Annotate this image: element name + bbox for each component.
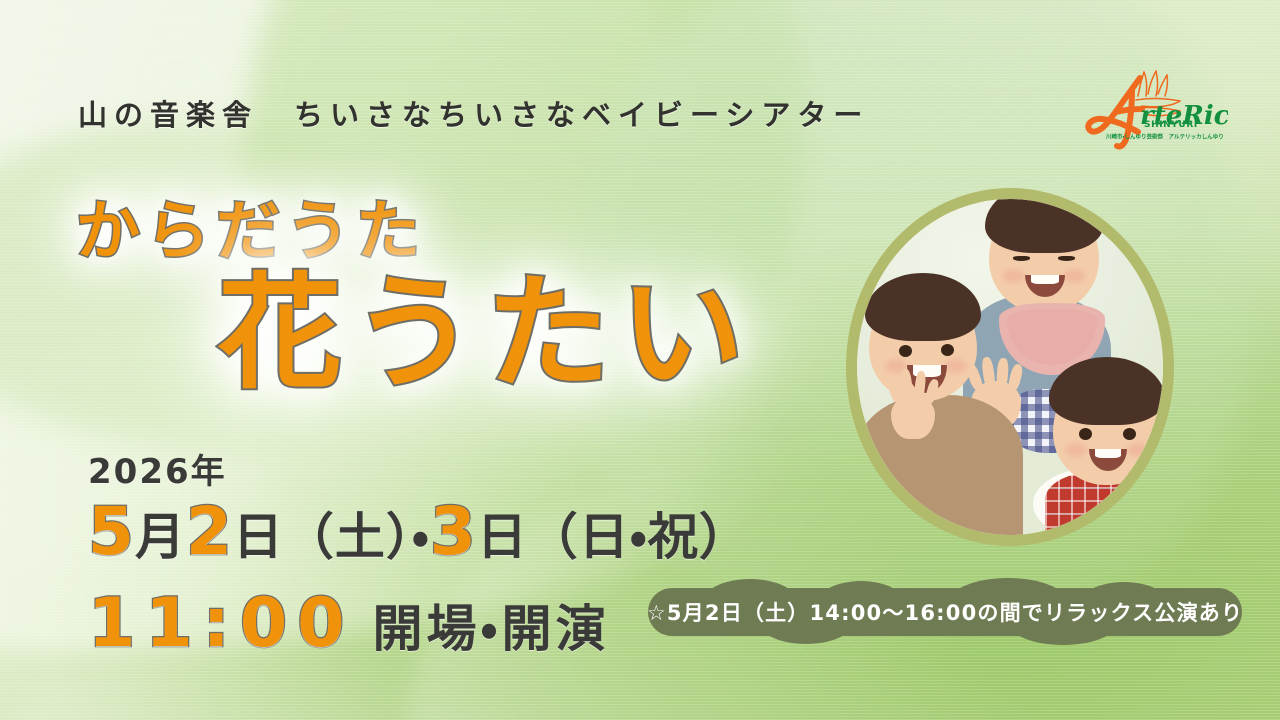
baby-left-eye-r — [941, 344, 954, 356]
babies-photo — [857, 199, 1163, 535]
baby-left-eye-l — [899, 345, 912, 357]
year-suffix: 年 — [191, 452, 227, 492]
artericca-logo[interactable]: rteRicca SHINYURI 川崎市・しんゆり芸術祭 アルテリッカしんゆり — [1076, 62, 1228, 158]
poster-canvas: 山の音楽舎 ちいさなちいさなベイビーシアター からだうた 花うたい 2026年 … — [0, 0, 1280, 720]
baby-top-cheek-r — [1063, 269, 1085, 283]
baby-top-eye-r — [1058, 256, 1075, 261]
subheading: 山の音楽舎 ちいさなちいさなベイビーシアター — [78, 92, 869, 134]
baby-top-eye-l — [1013, 256, 1030, 261]
day2-label: 日（日・祝） — [477, 508, 750, 566]
baby-left-cheek-r — [945, 359, 967, 373]
month-label: 月 — [135, 508, 186, 566]
photo-circle-frame — [846, 188, 1174, 546]
year-line: 2026年 — [88, 455, 750, 489]
baby-right-eye-l — [1079, 428, 1092, 440]
baby-right-cheek-r — [1127, 443, 1149, 457]
baby-right-eye-r — [1123, 428, 1136, 440]
time-label: 開場・開演 — [372, 600, 609, 658]
page-title: 花うたい — [218, 272, 754, 396]
title-secondary: からだうた — [76, 180, 426, 272]
baby-left-hair — [865, 273, 981, 341]
date-separator: ・ — [412, 508, 430, 566]
day1-label: 日（土） — [233, 508, 412, 566]
year-value: 2026 — [88, 452, 191, 492]
relax-banner-text: ☆5月2日（土）14:00〜16:00の間でリラックス公演あり — [647, 597, 1243, 627]
relax-performance-banner: ☆5月2日（土）14:00〜16:00の間でリラックス公演あり — [648, 588, 1242, 636]
time-value: 11:00 — [88, 584, 354, 663]
logo-tagline-en: SHINYURI — [1144, 120, 1198, 130]
month-number: 5 — [88, 493, 135, 570]
date-line: 5月2日（土）・3日（日・祝） — [88, 497, 750, 566]
baby-left-body — [857, 395, 1023, 535]
logo-tagline-jp: 川崎市・しんゆり芸術祭 アルテリッカしんゆり — [1106, 132, 1224, 140]
baby-top-hair — [985, 199, 1103, 253]
baby-right-cheek-l — [1065, 443, 1087, 457]
baby-top-cheek-l — [1003, 269, 1025, 283]
day2-number: 3 — [430, 493, 477, 570]
day1-number: 2 — [186, 493, 233, 570]
baby-top-bib-inner — [1007, 309, 1097, 365]
